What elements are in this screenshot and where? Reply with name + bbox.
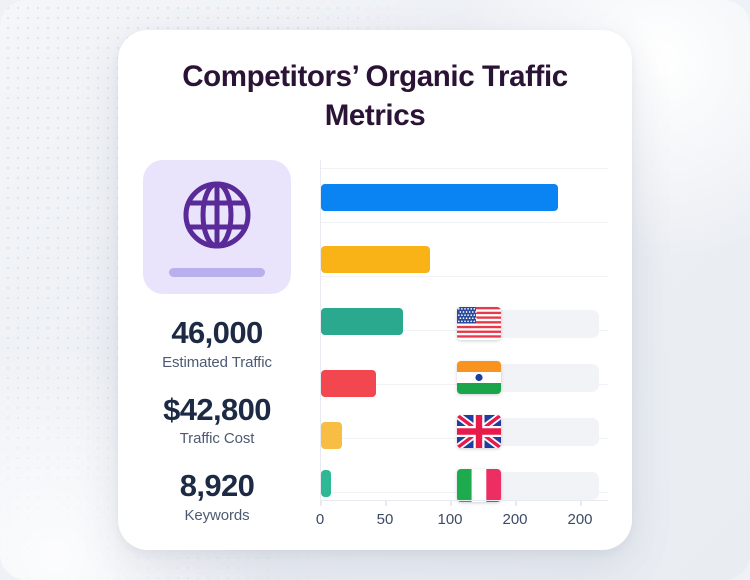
stat-label: Estimated Traffic [142, 354, 292, 371]
chart-bar[interactable] [321, 470, 331, 497]
globe-tile [143, 160, 291, 294]
stats-column: 46,000 Estimated Traffic $42,800 Traffic… [142, 160, 292, 542]
metrics-card: Competitors’ Organic Traffic Metrics 46, [118, 30, 632, 550]
chart-bar[interactable] [321, 246, 430, 273]
stat-label: Traffic Cost [142, 430, 292, 447]
axis-tick-label: 200 [502, 511, 527, 528]
country-flag-row[interactable] [457, 307, 501, 340]
chart-bar[interactable] [321, 422, 342, 449]
united-kingdom-flag [457, 415, 501, 448]
axis-tick [515, 500, 517, 506]
axis-tick-label: 100 [437, 511, 462, 528]
axis-tick [385, 500, 387, 506]
gridline [321, 168, 608, 169]
country-flag-row[interactable] [457, 415, 501, 448]
stat-keywords: 8,920 Keywords [142, 469, 292, 524]
stat-estimated-traffic: 46,000 Estimated Traffic [142, 316, 292, 371]
tile-underline-decoration [169, 268, 265, 277]
gridline [321, 222, 608, 223]
page-title: Competitors’ Organic Traffic Metrics [142, 58, 608, 136]
italy-flag [457, 469, 501, 502]
chart-bar[interactable] [321, 308, 403, 335]
axis-tick [320, 500, 322, 506]
axis-tick [450, 500, 452, 506]
united-states-flag [457, 307, 501, 340]
axis-line [320, 500, 608, 502]
gridline [321, 276, 608, 277]
axis-tick-label: 200 [567, 511, 592, 528]
axis-tick-label: 50 [377, 511, 394, 528]
card-body: 46,000 Estimated Traffic $42,800 Traffic… [142, 160, 608, 542]
stat-value: 8,920 [142, 469, 292, 504]
chart-plot-area [320, 160, 608, 500]
stat-traffic-cost: $42,800 Traffic Cost [142, 393, 292, 448]
chart-bar[interactable] [321, 370, 376, 397]
country-flag-row[interactable] [457, 361, 501, 394]
stat-label: Keywords [142, 507, 292, 524]
chart-x-axis: 050100200200 [320, 500, 608, 542]
axis-tick [580, 500, 582, 506]
globe-icon [178, 176, 256, 254]
axis-tick-label: 0 [316, 511, 324, 528]
stat-value: $42,800 [142, 393, 292, 428]
stat-value: 46,000 [142, 316, 292, 351]
india-flag [457, 361, 501, 394]
country-flag-row[interactable] [457, 469, 501, 502]
chart-bar[interactable] [321, 184, 558, 211]
traffic-bar-chart: 050100200200 [318, 160, 608, 542]
